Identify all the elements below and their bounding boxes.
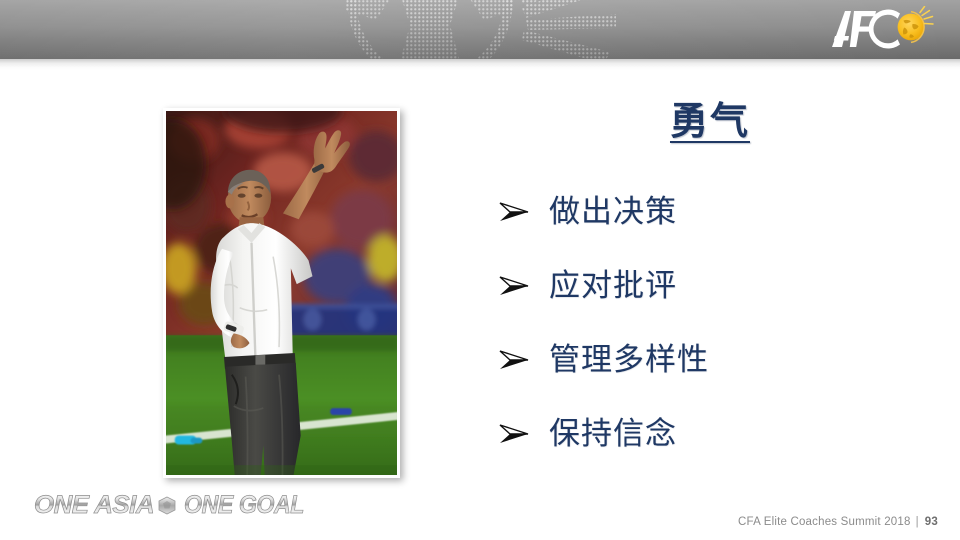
list-item-label: 做出决策 [549, 196, 677, 227]
list-item-label: 管理多样性 [549, 344, 709, 375]
slide-content: 勇气 做出决策 应对批评 [455, 95, 925, 485]
summit-name: CFA Elite Coaches Summit 2018 [738, 516, 911, 528]
arrowhead-bullet-icon [497, 200, 531, 224]
one-asia-one-goal-slogan: ONE ASIA ONE GOAL [34, 488, 304, 522]
bullet-list: 做出决策 应对批评 管理多样性 [455, 192, 925, 452]
halftone-football-icon [290, 0, 620, 59]
football-hexagon-icon [159, 497, 175, 514]
list-item: 做出决策 [497, 192, 925, 230]
list-item-label: 保持信念 [549, 418, 677, 449]
slide-header-band [0, 0, 960, 59]
footer-separator: | [916, 516, 919, 528]
page-title: 勇气 [455, 95, 925, 150]
list-item: 管理多样性 [497, 340, 925, 378]
coach-photo [163, 108, 400, 478]
arrowhead-bullet-icon [497, 348, 531, 372]
afc-globe-icon [898, 7, 933, 43]
slogan-right-text: ONE GOAL [184, 491, 304, 519]
header-drop-shadow [0, 59, 960, 71]
page-number: 93 [925, 516, 938, 528]
footer-note: CFA Elite Coaches Summit 2018|93 [738, 516, 938, 528]
arrowhead-bullet-icon [497, 422, 531, 446]
list-item-label: 应对批评 [549, 270, 677, 301]
afc-logo [818, 6, 938, 52]
list-item: 应对批评 [497, 266, 925, 304]
list-item: 保持信念 [497, 414, 925, 452]
afc-wordmark [832, 10, 900, 49]
slogan-left-text: ONE ASIA [34, 491, 154, 519]
arrowhead-bullet-icon [497, 274, 531, 298]
